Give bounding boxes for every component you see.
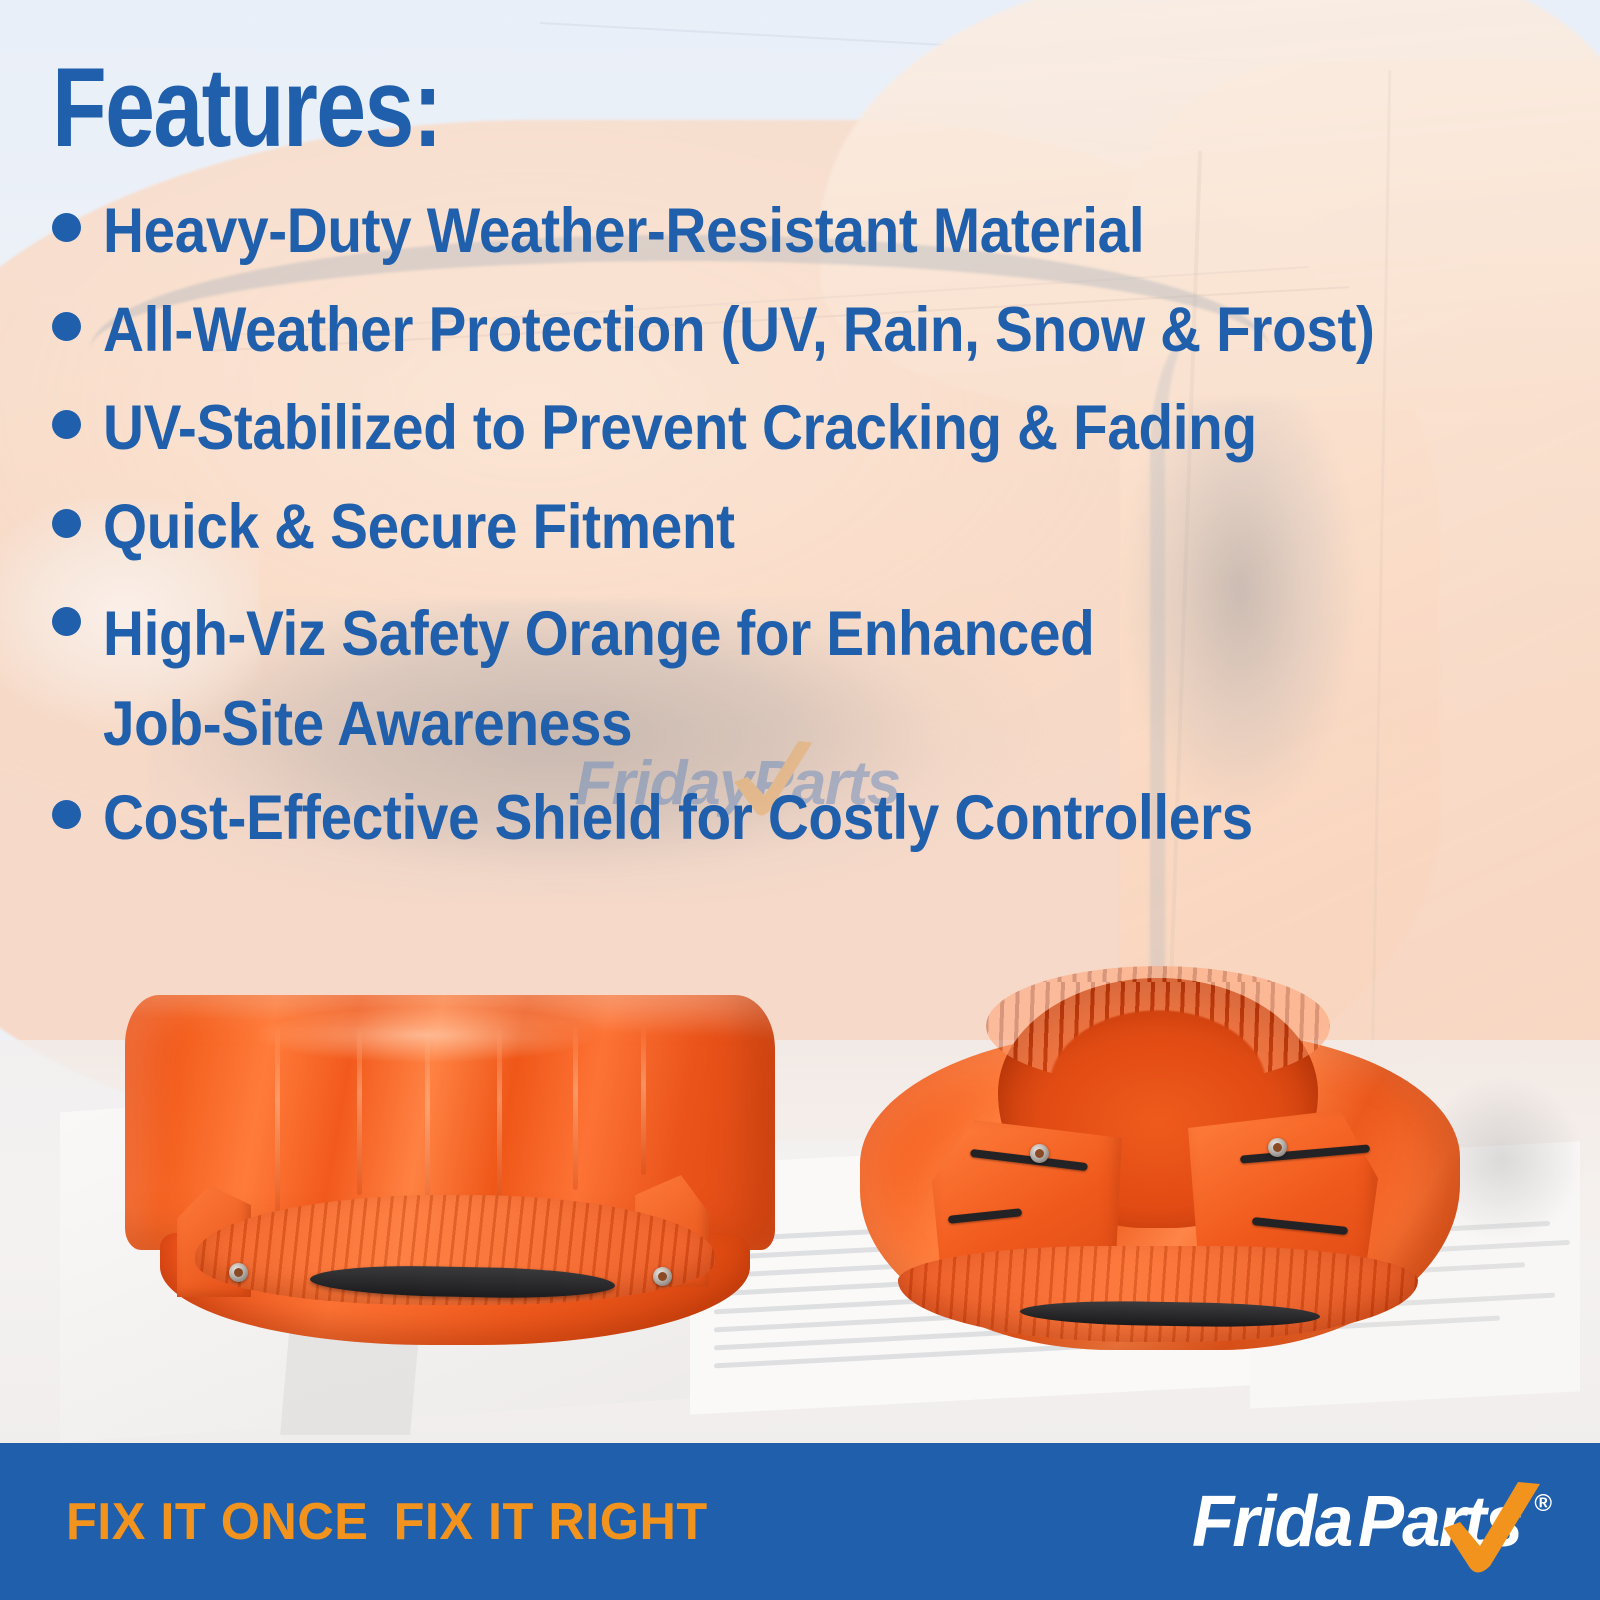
feature-text: Quick & Secure Fitment [103, 492, 735, 563]
tagline-left: FIX IT ONCE [66, 1493, 368, 1551]
product-elastic-ruffle [986, 966, 1330, 1086]
product-photo-front-view [105, 995, 795, 1325]
feature-text: High-Viz Safety Orange for Enhanced Job-… [103, 590, 1094, 769]
footer-tagline: FIX IT ONCEFIX IT RIGHT [66, 1492, 708, 1552]
feature-text: Heavy-Duty Weather-Resistant Material [103, 196, 1144, 267]
product-highlight [245, 1007, 645, 1077]
feature-list: Heavy-Duty Weather-Resistant Material Al… [52, 196, 1552, 882]
feature-text: Cost-Effective Shield for Costly Control… [103, 783, 1253, 854]
logo-text-friday: Frida [1192, 1486, 1351, 1558]
footer-bar: FIX IT ONCEFIX IT RIGHT Frida Parts ® [0, 1443, 1600, 1600]
list-item: Cost-Effective Shield for Costly Control… [52, 783, 1552, 854]
product-photo-group [0, 940, 1600, 1370]
list-item: UV-Stabilized to Prevent Cracking & Fadi… [52, 393, 1552, 464]
fridayparts-logo: Frida Parts ® [1192, 1486, 1552, 1558]
bullet-dot-icon [52, 509, 81, 538]
list-item: Quick & Secure Fitment [52, 492, 1552, 563]
product-grommet [653, 1267, 672, 1286]
list-item: All-Weather Protection (UV, Rain, Snow &… [52, 295, 1552, 366]
list-item: Heavy-Duty Weather-Resistant Material [52, 196, 1552, 267]
product-feature-infographic: NING Friday Parts Features: [0, 0, 1600, 1600]
list-item: High-Viz Safety Orange for Enhanced Job-… [52, 590, 1552, 769]
product-grommet [229, 1263, 248, 1282]
bullet-dot-icon [52, 410, 81, 439]
page-title: Features: [52, 52, 441, 164]
product-grommet [1268, 1138, 1287, 1157]
product-photo-open-view [840, 960, 1480, 1360]
bullet-dot-icon [52, 312, 81, 341]
product-grommet [1030, 1144, 1049, 1163]
bullet-dot-icon [52, 607, 81, 636]
bullet-dot-icon [52, 213, 81, 242]
feature-text: UV-Stabilized to Prevent Cracking & Fadi… [103, 393, 1257, 464]
tagline-right: FIX IT RIGHT [394, 1493, 708, 1551]
logo-check-icon [1438, 1482, 1546, 1580]
feature-text: All-Weather Protection (UV, Rain, Snow &… [103, 295, 1375, 366]
bullet-dot-icon [52, 800, 81, 829]
